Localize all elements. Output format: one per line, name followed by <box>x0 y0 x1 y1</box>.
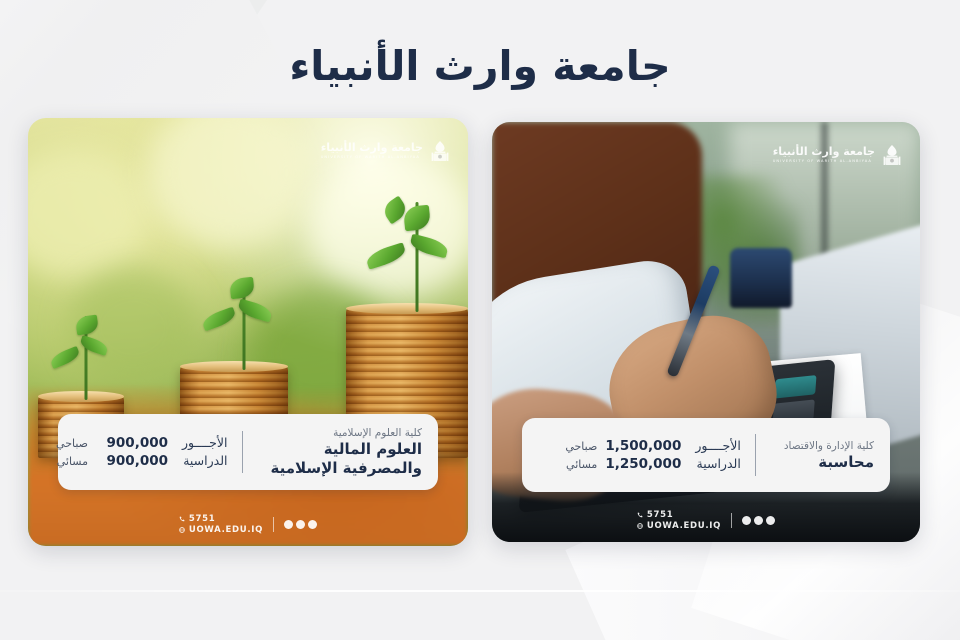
website-line: UOWA.EDU.IQ <box>637 522 721 531</box>
facebook-icon[interactable] <box>284 520 293 529</box>
fees-label-line1: الأجــــور <box>695 437 740 455</box>
globe-icon <box>179 527 185 533</box>
telegram-icon[interactable] <box>308 520 317 529</box>
contact-separator <box>273 517 274 532</box>
globe-icon <box>637 523 643 529</box>
program-name-line1: العلوم المالية <box>271 440 423 459</box>
logo-english-text: UNIVERSITY OF WARITH AL-ANBIYAA <box>321 156 420 160</box>
seedling-leaf <box>403 205 431 232</box>
info-panel: كلية العلوم الإسلامية العلوم المالية وال… <box>58 414 438 490</box>
program-name-line1: محاسبة <box>784 453 874 472</box>
panel-divider <box>242 431 243 473</box>
stamp-object <box>730 248 792 308</box>
fee-amount: 900,000 <box>96 435 168 451</box>
phone-number[interactable]: 5751 <box>189 515 215 524</box>
college-name-label: كلية العلوم الإسلامية <box>271 426 423 440</box>
logo-arabic-text: جامعة وارث الأنبياء <box>773 146 875 157</box>
college-block: كلية الإدارة والاقتصاد محاسبة <box>770 439 874 472</box>
fees-block: الأجــــور الدراسية 900,000 صباحي 900,00… <box>56 434 227 470</box>
program-name-line2: والمصرفية الإسلامية <box>271 459 423 478</box>
background-highlight-line <box>0 590 960 592</box>
logo-wordmark: جامعة وارث الأنبياء UNIVERSITY OF WARITH… <box>773 146 875 164</box>
fees-label-line2: الدراسية <box>695 455 740 473</box>
phone-icon <box>637 512 643 518</box>
shrine-dome-emblem-icon <box>430 140 450 162</box>
card-accounting[interactable]: جامعة وارث الأنبياء UNIVERSITY OF WARITH… <box>492 122 920 542</box>
logo-wordmark: جامعة وارث الأنبياء UNIVERSITY OF WARITH… <box>321 142 423 160</box>
fees-rows: 900,000 صباحي 900,000 مسائي <box>56 435 168 469</box>
fee-amount: 1,250,000 <box>605 456 681 472</box>
university-logo: جامعة وارث الأنبياء UNIVERSITY OF WARITH… <box>773 144 902 166</box>
contact-strip: 5751 UOWA.EDU.IQ <box>492 511 920 530</box>
fee-amount: 900,000 <box>96 453 168 469</box>
seedling <box>64 316 108 400</box>
logo-english-text: UNIVERSITY OF WARITH AL-ANBIYAA <box>773 160 872 164</box>
contact-column: 5751 UOWA.EDU.IQ <box>179 515 263 534</box>
social-icons <box>742 516 775 525</box>
fee-row: 1,250,000 مسائي <box>565 456 681 472</box>
contact-strip: 5751 UOWA.EDU.IQ <box>28 515 468 534</box>
fees-label-line1: الأجــــور <box>182 434 227 452</box>
website-line: UOWA.EDU.IQ <box>179 526 263 535</box>
seedling-leaf <box>79 335 110 356</box>
calculator-key <box>774 375 817 399</box>
poster-canvas: جامعة وارث الأنبياء <box>0 0 960 640</box>
fee-shift: صباحي <box>56 437 88 450</box>
college-block: كلية العلوم الإسلامية العلوم المالية وال… <box>257 426 423 478</box>
social-icons <box>284 520 317 529</box>
contact-separator <box>731 513 732 528</box>
fee-row: 900,000 صباحي <box>56 435 168 451</box>
page-title: جامعة وارث الأنبياء <box>0 42 960 90</box>
shrine-dome-emblem-icon <box>882 144 902 166</box>
instagram-icon[interactable] <box>754 516 763 525</box>
fee-amount: 1,500,000 <box>605 438 681 454</box>
telegram-icon[interactable] <box>766 516 775 525</box>
website-url[interactable]: UOWA.EDU.IQ <box>189 526 263 535</box>
website-url[interactable]: UOWA.EDU.IQ <box>647 522 721 531</box>
bokeh-blob <box>28 148 148 278</box>
university-logo: جامعة وارث الأنبياء UNIVERSITY OF WARITH… <box>321 140 450 162</box>
fees-label-line2: الدراسية <box>182 452 227 470</box>
seedling-leaf <box>49 346 82 369</box>
fees-label: الأجــــور الدراسية <box>182 434 227 470</box>
fee-shift: صباحي <box>565 440 597 453</box>
phone-line: 5751 <box>179 515 215 524</box>
seedling <box>220 278 268 370</box>
bokeh-blob <box>308 158 468 298</box>
instagram-icon[interactable] <box>296 520 305 529</box>
contact-column: 5751 UOWA.EDU.IQ <box>637 511 721 530</box>
info-panel: كلية الإدارة والاقتصاد محاسبة الأجــــور… <box>522 418 890 492</box>
college-name-label: كلية الإدارة والاقتصاد <box>784 439 874 453</box>
fee-row: 1,500,000 صباحي <box>565 438 681 454</box>
seedling <box>390 202 444 312</box>
panel-divider <box>755 434 756 476</box>
fees-rows: 1,500,000 صباحي 1,250,000 مسائي <box>565 438 681 472</box>
fee-row: 900,000 مسائي <box>56 453 168 469</box>
fees-label: الأجــــور الدراسية <box>695 437 740 473</box>
facebook-icon[interactable] <box>742 516 751 525</box>
logo-arabic-text: جامعة وارث الأنبياء <box>321 142 423 153</box>
card-finance-islamic-banking[interactable]: جامعة وارث الأنبياء UNIVERSITY OF WARITH… <box>28 118 468 546</box>
seedling-leaf <box>229 277 255 299</box>
phone-line: 5751 <box>637 511 673 520</box>
fee-shift: مسائي <box>566 458 597 471</box>
phone-icon <box>179 516 185 522</box>
phone-number[interactable]: 5751 <box>647 511 673 520</box>
seedling-leaf <box>201 307 238 332</box>
fees-block: الأجــــور الدراسية 1,500,000 صباحي 1,25… <box>532 437 741 473</box>
seedling-leaf <box>75 315 99 336</box>
bokeh-blob <box>148 118 308 248</box>
fee-shift: مسائي <box>57 455 88 468</box>
